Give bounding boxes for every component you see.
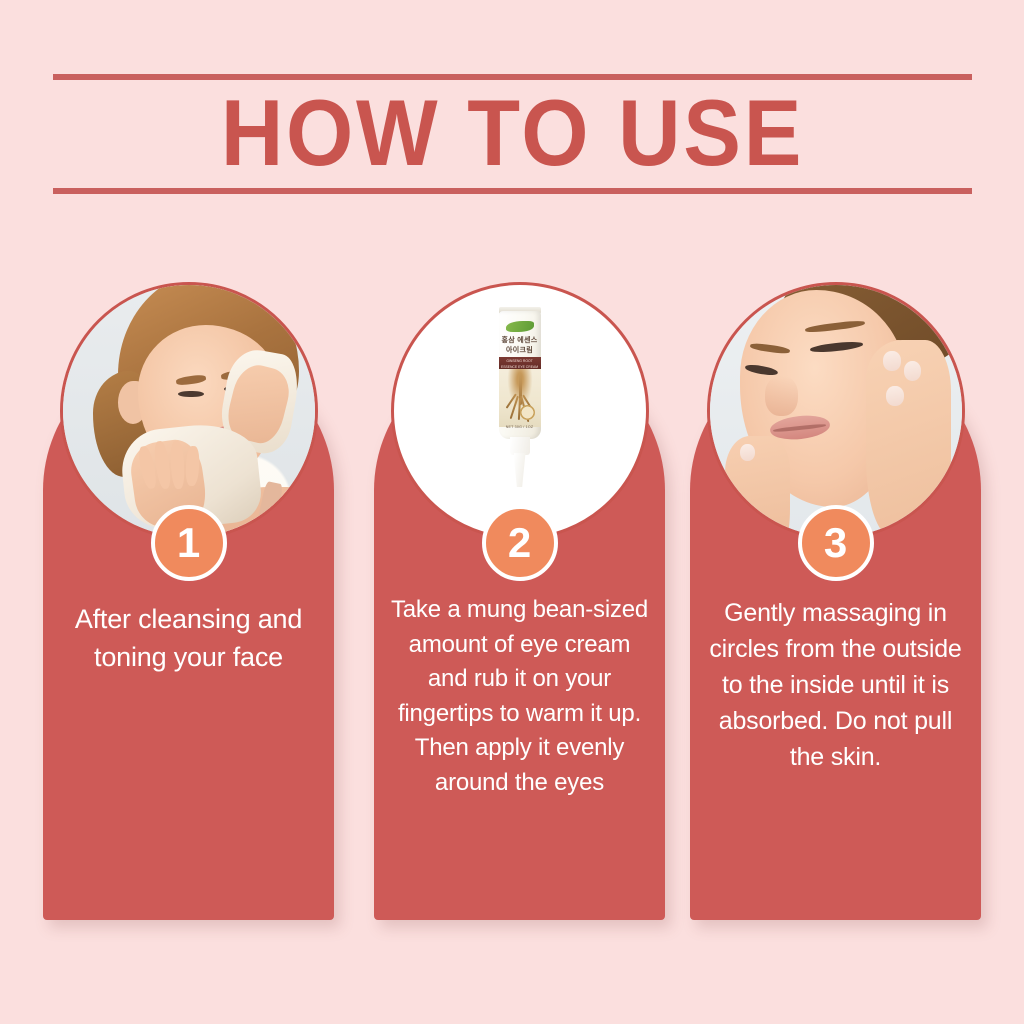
fingernail-shape xyxy=(883,351,901,371)
step-2-media-circle: 홍삼 에센스 아이크림 GINSENG ROOT ESSENCE EYE CRE… xyxy=(391,282,649,540)
how-to-use-poster: HOW TO USE xyxy=(0,0,1024,1024)
ginseng-root-illustration xyxy=(499,369,541,427)
step-caption-1: After cleansing and toning your face xyxy=(55,600,322,677)
tube-neck xyxy=(510,437,530,455)
step-card-1: 1 After cleansing and toning your face xyxy=(43,345,334,920)
step-number-badge-3: 3 xyxy=(798,505,874,581)
tube-nozzle xyxy=(514,453,526,487)
step-3-media-circle xyxy=(707,282,965,540)
fingernail-shape xyxy=(740,444,755,462)
tube-product-line: 아이크림 xyxy=(501,346,539,355)
left-hand-shape xyxy=(725,436,791,540)
page-title: HOW TO USE xyxy=(90,78,935,188)
fingernail-shape xyxy=(904,361,922,381)
woman-massaging-face-photo xyxy=(710,285,962,537)
step-caption-3: Gently massaging in circles from the out… xyxy=(702,595,969,775)
woman-wiping-face-with-towel-photo xyxy=(63,285,315,537)
eye-cream-tube-product-photo: 홍삼 에센스 아이크림 GINSENG ROOT ESSENCE EYE CRE… xyxy=(493,305,547,495)
fingernail-shape xyxy=(886,386,904,406)
step-card-2: 홍삼 에센스 아이크림 GINSENG ROOT ESSENCE EYE CRE… xyxy=(374,345,665,920)
step-caption-2: Take a mung bean-sized amount of eye cre… xyxy=(386,593,653,800)
step-1-media-circle xyxy=(60,282,318,540)
tube-net-weight: NET 30G / 1OZ xyxy=(499,425,541,429)
step-number-badge-2: 2 xyxy=(482,505,558,581)
tube-brand-line: 홍삼 에센스 xyxy=(501,336,539,345)
step-number-badge-1: 1 xyxy=(151,505,227,581)
title-rule-bottom xyxy=(53,188,972,194)
tube-brand-text: 홍삼 에센스 아이크림 xyxy=(501,336,539,355)
step-card-3: 3 Gently massaging in circles from the o… xyxy=(690,345,981,920)
header: HOW TO USE xyxy=(53,74,972,194)
tube-band: GINSENG ROOT ESSENCE EYE CREAM xyxy=(499,357,541,369)
steps-row: 1 After cleansing and toning your face 홍… xyxy=(0,260,1024,960)
certification-seal-icon xyxy=(520,405,535,420)
nose-shape xyxy=(765,376,798,416)
